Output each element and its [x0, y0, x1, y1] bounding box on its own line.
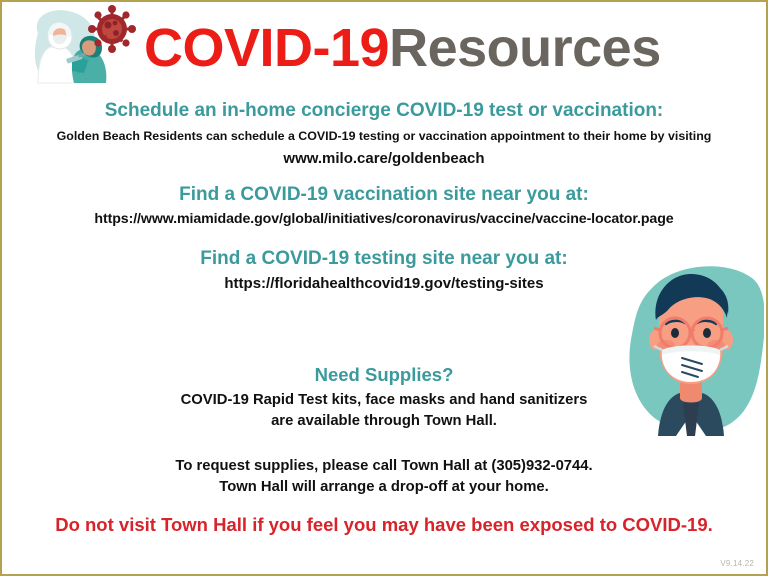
- version-tag: V9.14.22: [720, 559, 754, 568]
- eye-right: [703, 328, 711, 338]
- warning-text: Do not visit Town Hall if you feel you m…: [2, 514, 766, 536]
- flyer-header: COVID-19Resources: [2, 2, 766, 94]
- section-supplies: Need Supplies? COVID-19 Rapid Test kits,…: [2, 364, 766, 432]
- schedule-body: Golden Beach Residents can schedule a CO…: [14, 128, 754, 144]
- eye-left: [671, 328, 679, 338]
- section-warning: Do not visit Town Hall if you feel you m…: [2, 514, 766, 536]
- section-testing-site: Find a COVID-19 testing site near you at…: [2, 248, 766, 294]
- request-line-1: To request supplies, please call Town Ha…: [14, 456, 754, 477]
- title-resources: Resources: [389, 18, 661, 78]
- vaccination-illustration: [20, 3, 142, 93]
- covid-resources-flyer: COVID-19Resources: [0, 0, 768, 576]
- title-covid19: COVID-19: [144, 18, 389, 78]
- schedule-heading: Schedule an in-home concierge COVID-19 t…: [14, 100, 754, 122]
- supplies-line-2: are available through Town Hall.: [14, 411, 754, 432]
- section-schedule: Schedule an in-home concierge COVID-19 t…: [2, 100, 766, 168]
- page-title: COVID-19Resources: [144, 21, 661, 75]
- glasses-icon: [654, 318, 728, 348]
- supplies-heading: Need Supplies?: [14, 364, 754, 386]
- vaccination-site-url[interactable]: https://www.miamidade.gov/global/initiat…: [14, 210, 754, 228]
- supplies-line-1: COVID-19 Rapid Test kits, face masks and…: [14, 390, 754, 411]
- section-vaccination-site: Find a COVID-19 vaccination site near yo…: [2, 184, 766, 229]
- schedule-url[interactable]: www.milo.care/goldenbeach: [14, 149, 754, 169]
- request-line-2: Town Hall will arrange a drop-off at you…: [14, 477, 754, 498]
- testing-site-heading: Find a COVID-19 testing site near you at…: [14, 248, 754, 270]
- testing-site-url[interactable]: https://floridahealthcovid19.gov/testing…: [14, 274, 754, 294]
- vaccination-site-heading: Find a COVID-19 vaccination site near yo…: [14, 184, 754, 206]
- section-request-supplies: To request supplies, please call Town Ha…: [2, 456, 766, 498]
